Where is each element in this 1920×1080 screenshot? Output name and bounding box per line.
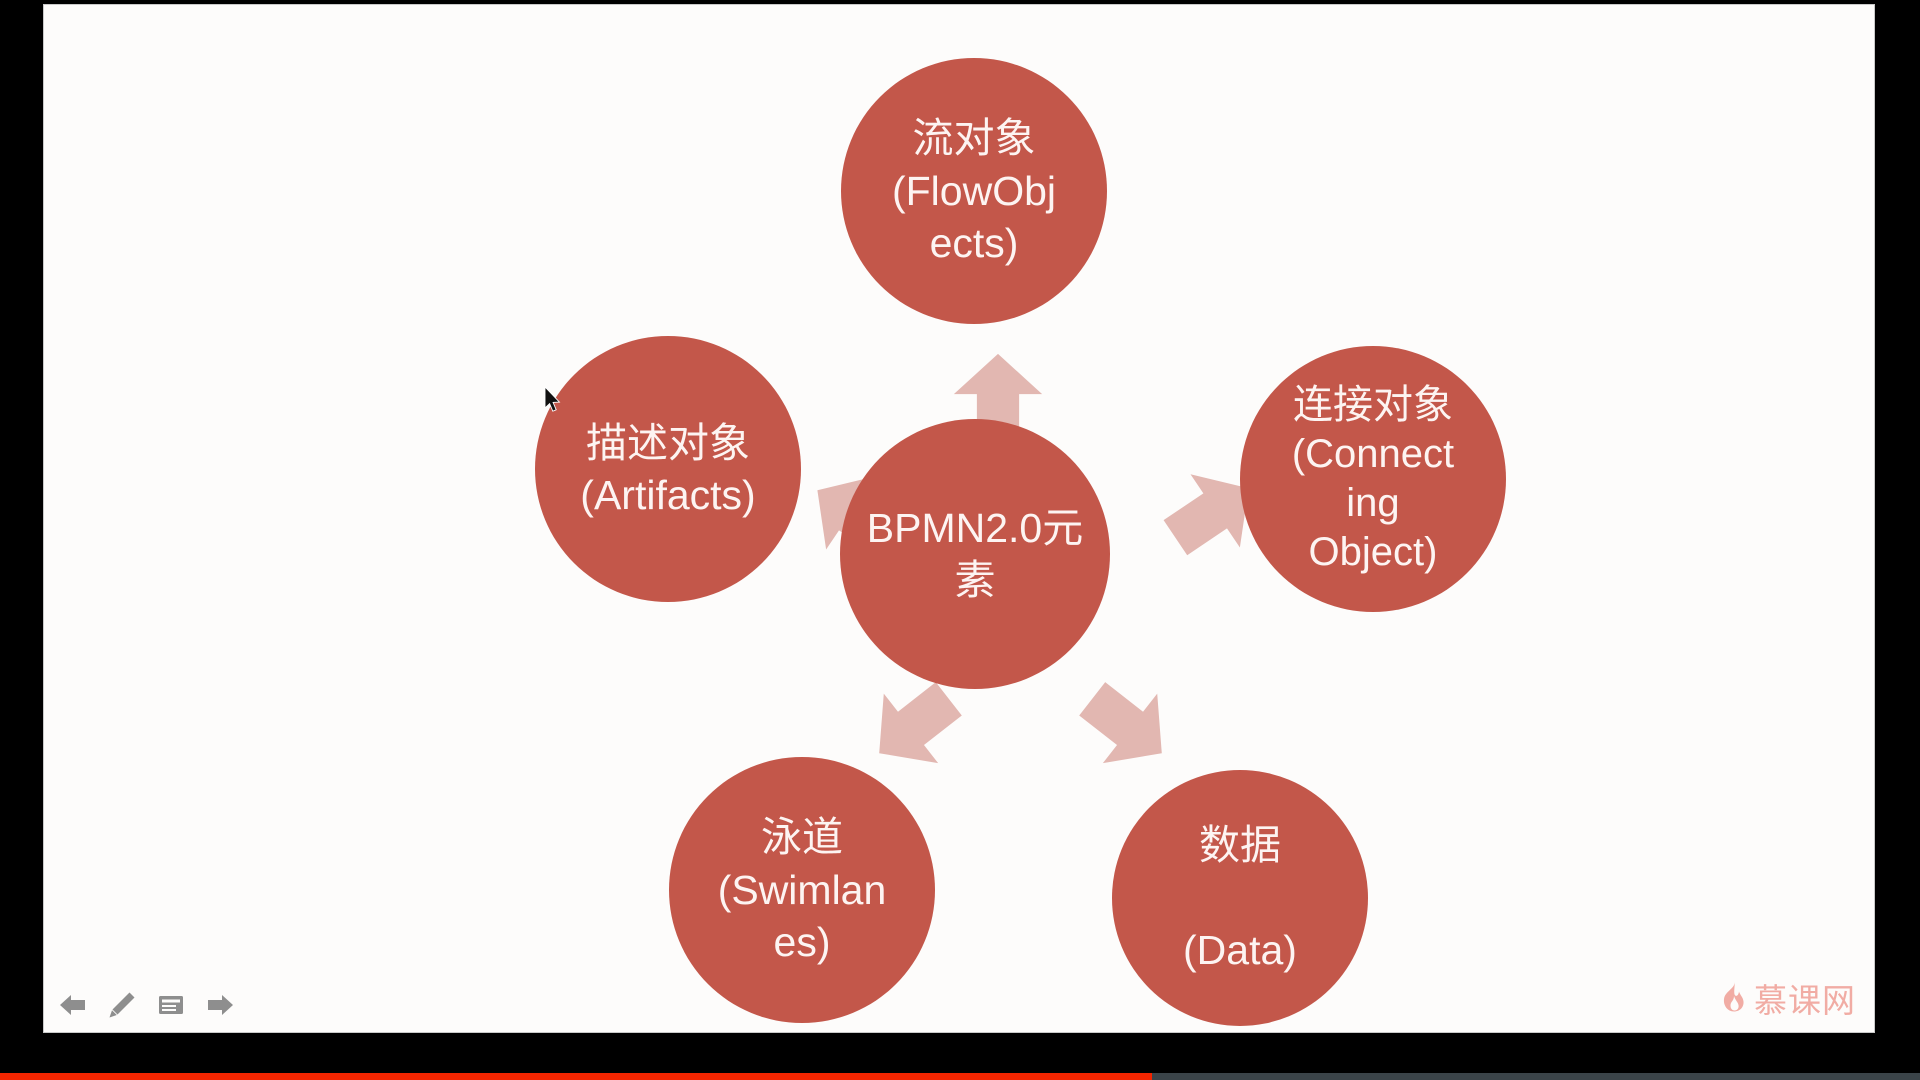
pencil-icon: [107, 990, 137, 1020]
diagram-node-artifacts[interactable]: 描述对象 (Artifacts): [535, 336, 801, 602]
watermark: 慕课网: [1718, 974, 1856, 1022]
left-arrow-icon: [58, 990, 88, 1020]
flame-icon: [1718, 980, 1748, 1016]
notes-button[interactable]: [156, 990, 186, 1020]
video-player-viewport: 流对象 (FlowObj ects) 连接对象 (Connect ing Obj…: [0, 0, 1920, 1080]
watermark-text: 慕课网: [1754, 974, 1856, 1022]
node-label: 连接对象 (Connect ing Object): [1250, 381, 1496, 576]
node-label: 描述对象 (Artifacts): [545, 417, 791, 522]
node-label: BPMN2.0元素: [850, 502, 1100, 607]
right-arrow-icon: [205, 990, 235, 1020]
bpmn-elements-diagram: 流对象 (FlowObj ects) 连接对象 (Connect ing Obj…: [44, 5, 1874, 1032]
diagram-node-flow-objects[interactable]: 流对象 (FlowObj ects): [841, 58, 1107, 324]
diagram-node-connecting-object[interactable]: 连接对象 (Connect ing Object): [1240, 346, 1506, 612]
previous-slide-button[interactable]: [58, 990, 88, 1020]
arrow-lower-right-icon: [1060, 659, 1195, 794]
presentation-slide: 流对象 (FlowObj ects) 连接对象 (Connect ing Obj…: [43, 4, 1875, 1033]
node-label: 数据 (Data): [1122, 819, 1358, 976]
diagram-node-data[interactable]: 数据 (Data): [1112, 770, 1368, 1026]
notes-icon: [156, 990, 186, 1020]
node-label: 流对象 (FlowObj ects): [851, 112, 1097, 269]
pen-tool-button[interactable]: [107, 990, 137, 1020]
player-toolbar: [50, 986, 243, 1024]
node-label: 泳道 (Swimlan es): [679, 811, 925, 968]
next-slide-button[interactable]: [205, 990, 235, 1020]
diagram-node-swimlanes[interactable]: 泳道 (Swimlan es): [669, 757, 935, 1023]
diagram-node-center-bpmn[interactable]: BPMN2.0元素: [840, 419, 1110, 689]
video-progress-bar[interactable]: [0, 1073, 1920, 1080]
video-progress-fill: [0, 1073, 1152, 1080]
